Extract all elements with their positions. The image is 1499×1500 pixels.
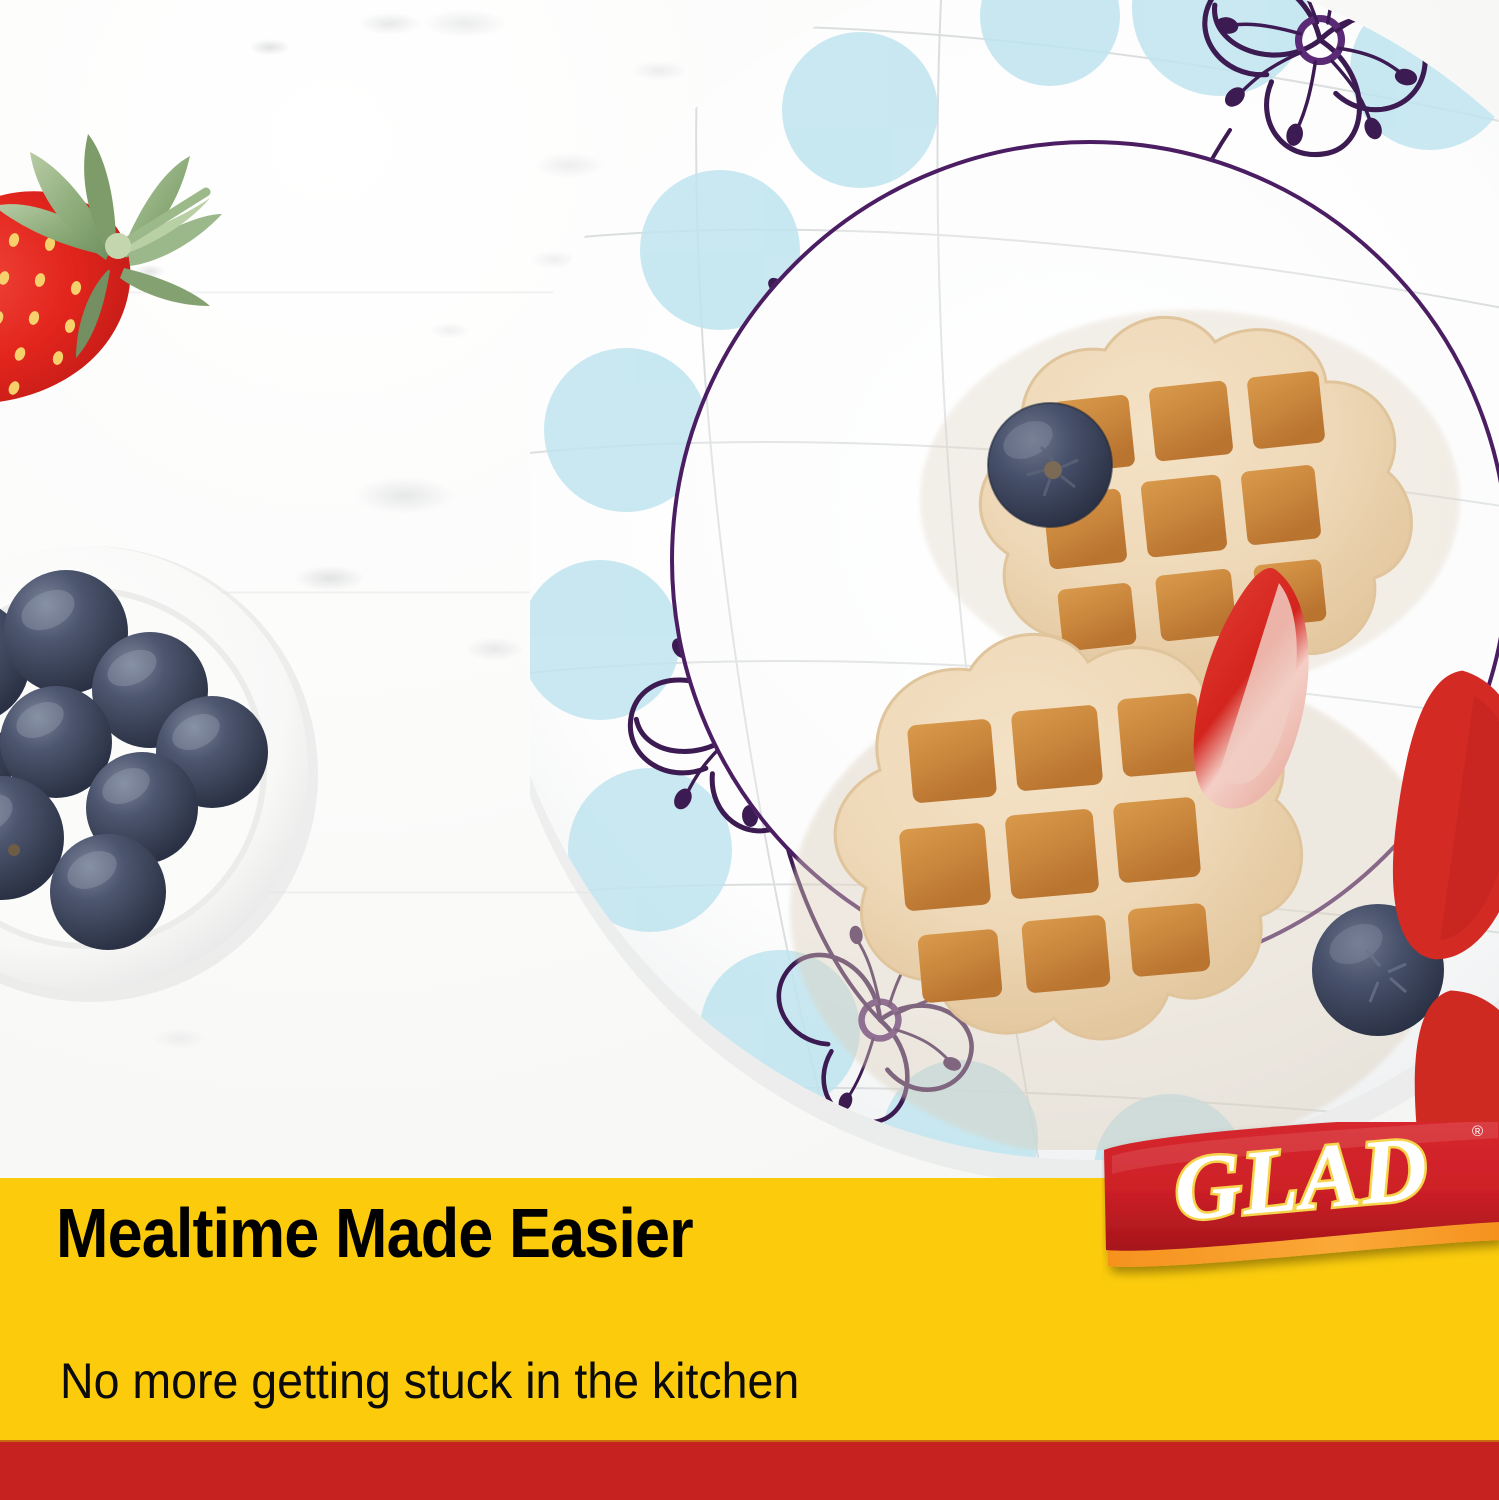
logo-ribbon [1104,1122,1499,1251]
belgian-waffles [760,270,1499,1150]
blueberry-on-waffle [988,403,1112,527]
registered-mark: ® [1472,1123,1483,1140]
strawberry-piece-right-top [1382,665,1499,967]
product-photo [0,0,1499,1180]
blueberry-bowl [0,520,360,1020]
advertisement-root: Mealtime Made Easier No more getting stu… [0,0,1499,1500]
subhead-text-1: No more getting stuck in the kitchen [60,1353,799,1409]
bottom-red-bar [0,1442,1499,1500]
glad-wordmark-text: GLAD [1170,1122,1432,1240]
glad-logo: GLAD ® [1102,1122,1499,1292]
logo-accent-swoosh [1106,1122,1499,1267]
strawberry-whole [0,120,330,450]
glad-logo-graphic: GLAD ® [1102,1122,1499,1292]
headline-text: Mealtime Made Easier [56,1196,693,1270]
